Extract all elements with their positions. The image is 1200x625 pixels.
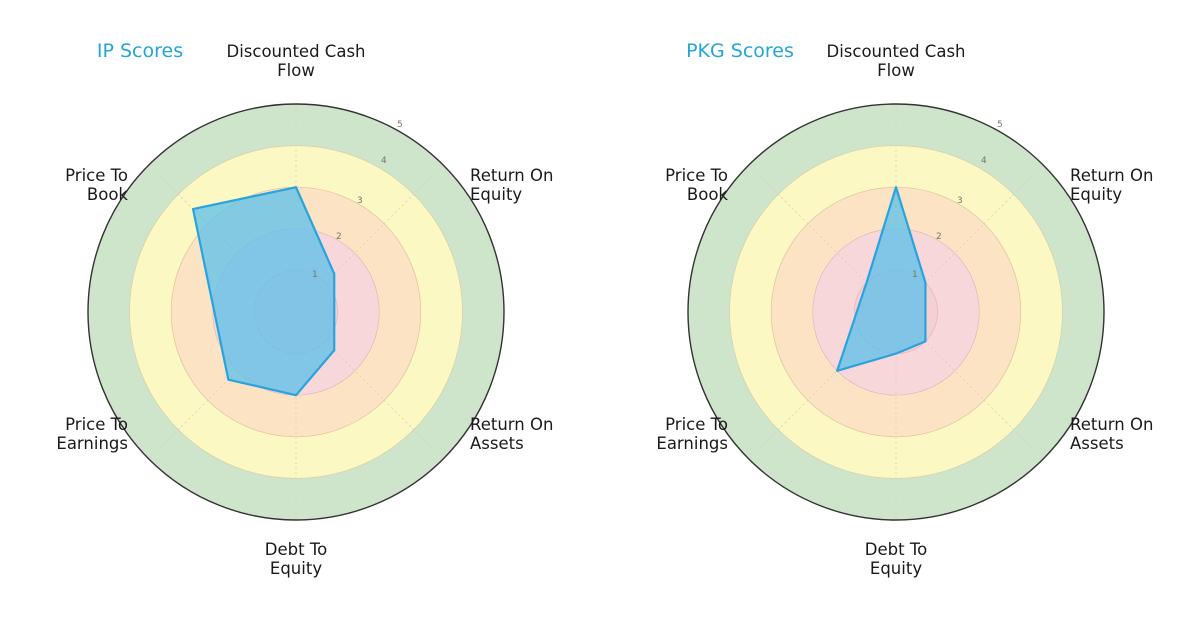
axis-label-return-on-assets: Return On Assets [1070, 415, 1200, 454]
radar-chart-page: IP Scores [0, 0, 1200, 625]
chart-panel-pkg: PKG Scores [600, 0, 1200, 625]
axis-label-price-to-earnings: Price To Earnings [588, 415, 728, 454]
tick-label-4: 4 [981, 156, 987, 166]
radar-plot-ip: 5 4 3 2 1 Discounted Cash Flow Return On… [0, 0, 600, 625]
radar-svg-ip [0, 0, 600, 625]
tick-label-5: 5 [397, 120, 403, 130]
axis-label-discounted-cash-flow: Discounted Cash Flow [196, 42, 396, 81]
axis-label-price-to-earnings: Price To Earnings [0, 415, 128, 454]
radar-svg-pkg [600, 0, 1200, 625]
tick-label-2: 2 [336, 232, 342, 242]
tick-label-1: 1 [312, 270, 318, 280]
axis-label-price-to-book: Price To Book [0, 166, 128, 205]
chart-panel-ip: IP Scores [0, 0, 600, 625]
tick-label-2: 2 [936, 232, 942, 242]
tick-label-3: 3 [357, 196, 363, 206]
axis-label-return-on-equity: Return On Equity [1070, 166, 1200, 205]
radar-plot-pkg: 5 4 3 2 1 Discounted Cash Flow Return On… [600, 0, 1200, 625]
tick-label-3: 3 [957, 196, 963, 206]
axis-label-price-to-book: Price To Book [588, 166, 728, 205]
tick-label-4: 4 [381, 156, 387, 166]
axis-label-discounted-cash-flow: Discounted Cash Flow [796, 42, 996, 81]
tick-label-5: 5 [997, 120, 1003, 130]
axis-label-debt-to-equity: Debt To Equity [196, 540, 396, 579]
axis-label-debt-to-equity: Debt To Equity [796, 540, 996, 579]
tick-label-1: 1 [912, 270, 918, 280]
